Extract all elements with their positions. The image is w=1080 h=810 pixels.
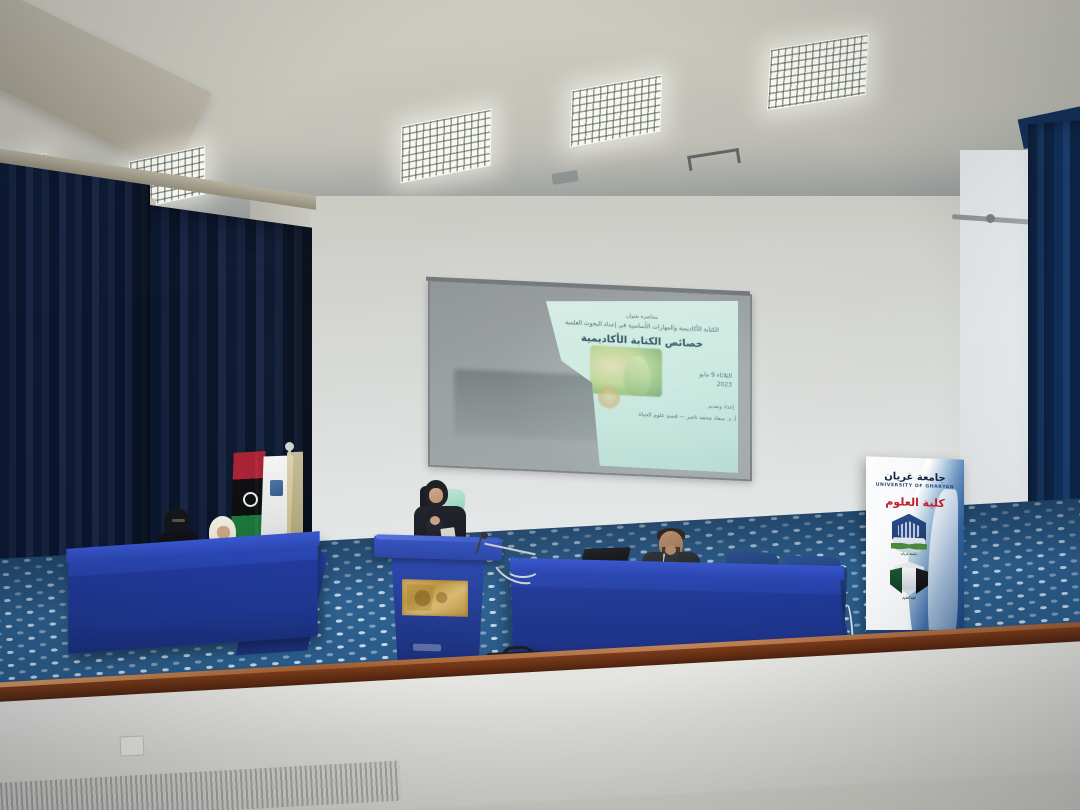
banner-logo-secondary-caption: كلية العلوم	[888, 595, 930, 600]
panelist-left-1-eyes	[172, 519, 185, 522]
slide-date-line-2: 2023	[680, 379, 732, 389]
university-flag-emblem-icon	[270, 480, 283, 496]
slide-presenter-name: أ. د. سعاد محمد ناصر — قسم علوم الحياة	[626, 411, 736, 423]
flag-finial	[285, 442, 294, 451]
ceremonial-flag-icon	[287, 452, 303, 539]
banner-faculty-name: كلية العلوم	[866, 494, 964, 510]
banner-logo-primary-caption: جامعة غريان	[890, 551, 928, 556]
slide-presenter-label: إعداد وتقديم	[664, 401, 734, 411]
panelist-right-hand	[665, 545, 676, 555]
speaker-face	[429, 488, 443, 503]
curtain-rail-knob	[986, 214, 995, 223]
speaker-hand	[430, 516, 440, 525]
slide-date-line-1: الثلاثاء 9 مايو	[680, 370, 732, 380]
stage-cable	[506, 560, 540, 578]
podium-logo	[413, 644, 441, 652]
podium-plaque	[402, 579, 468, 617]
faculty-crest-left-wing-icon	[890, 567, 902, 593]
slide-image-leaf	[624, 355, 650, 396]
auditorium-photo: محاضرة بعنوان الكتابة الأكاديمية والمهار…	[0, 0, 1080, 810]
microphone-icon	[481, 532, 488, 539]
wall-socket-icon	[119, 735, 144, 756]
faculty-crest-shield-icon	[902, 568, 916, 590]
slide-image-circle	[598, 386, 620, 409]
